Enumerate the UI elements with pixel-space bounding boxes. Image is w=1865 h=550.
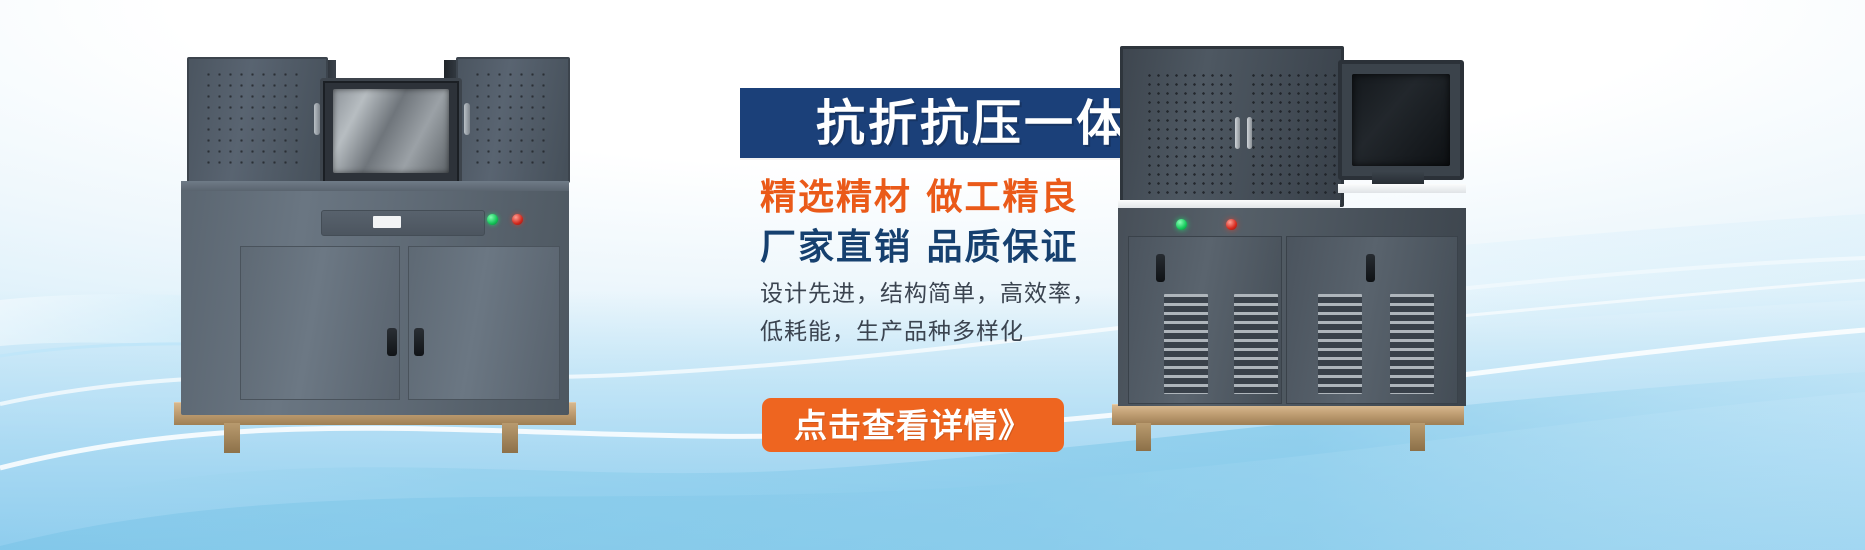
monitor-housing bbox=[1338, 60, 1464, 180]
white-shelf-strip bbox=[1338, 184, 1466, 193]
cabinet-handle bbox=[464, 103, 470, 135]
door-handle bbox=[387, 328, 397, 356]
right-perforated-cabinet bbox=[456, 57, 570, 183]
cabinet-handle bbox=[1247, 117, 1252, 149]
ventilation-louver bbox=[1164, 294, 1208, 394]
left-machine-body-top-edge bbox=[181, 181, 569, 191]
perforation-pattern bbox=[203, 69, 304, 169]
view-details-button-label: 点击查看详情》 bbox=[794, 409, 1032, 442]
monitor-stand bbox=[1372, 172, 1424, 184]
lower-cabinet-door-right bbox=[408, 246, 560, 400]
upper-perforated-cabinet bbox=[1120, 46, 1344, 207]
monitor-screen bbox=[1352, 74, 1450, 166]
left-perforated-cabinet bbox=[187, 57, 328, 183]
center-display-glass bbox=[333, 89, 449, 173]
door-handle bbox=[414, 328, 424, 356]
right-pallet-leg bbox=[1136, 423, 1151, 451]
control-drawer bbox=[321, 210, 485, 236]
perforation-pattern bbox=[472, 69, 546, 169]
ventilation-louver bbox=[1234, 294, 1278, 394]
center-display-housing bbox=[320, 78, 462, 188]
drawer-label-plate bbox=[373, 216, 401, 228]
right-pallet-leg bbox=[1410, 423, 1425, 451]
door-handle bbox=[1156, 254, 1165, 282]
power-on-indicator-icon bbox=[1176, 219, 1187, 230]
right-machine-pallet bbox=[1112, 404, 1464, 425]
ventilation-louver bbox=[1318, 294, 1362, 394]
product-promo-banner: 抗折抗压一体机 精选精材 做工精良 厂家直销 品质保证 设计先进，结构简单，高效… bbox=[0, 0, 1865, 550]
lower-cabinet-door-left bbox=[240, 246, 400, 400]
stop-indicator-icon bbox=[512, 214, 523, 225]
power-on-indicator-icon bbox=[487, 214, 498, 225]
door-handle bbox=[1366, 254, 1375, 282]
perforation-pattern bbox=[1145, 71, 1237, 199]
cabinet-handle bbox=[1235, 117, 1240, 149]
left-pallet-leg bbox=[502, 423, 518, 453]
ventilation-louver bbox=[1390, 294, 1434, 394]
left-pallet-leg bbox=[224, 423, 240, 453]
right-machine-photo bbox=[1110, 36, 1480, 436]
perforation-pattern bbox=[1249, 71, 1341, 199]
stop-indicator-icon bbox=[1226, 219, 1237, 230]
left-machine-photo bbox=[168, 44, 588, 434]
view-details-button[interactable]: 点击查看详情》 bbox=[762, 398, 1064, 452]
